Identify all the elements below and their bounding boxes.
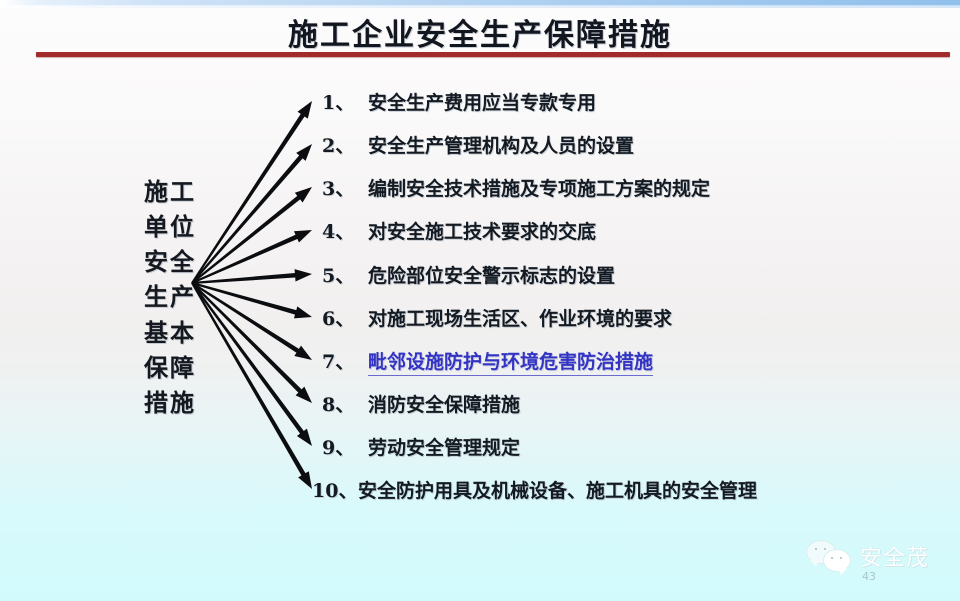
list-item-label: 对施工现场生活区、作业环境的要求: [368, 304, 672, 331]
arrow-3: [191, 187, 312, 284]
measures-list: 1、安全生产费用应当专款专用2、安全生产管理机构及人员的设置3、编制安全技术措施…: [322, 0, 942, 601]
arrow-9: [191, 282, 312, 446]
list-item-number: 5、: [322, 261, 368, 288]
list-item-number: 7、: [322, 347, 368, 374]
left-label-char: 位: [170, 215, 194, 239]
left-label-char: 施: [170, 391, 194, 415]
list-item-label: 安全生产管理机构及人员的设置: [368, 131, 634, 158]
list-item-label: 安全生产费用应当专款专用: [368, 88, 596, 115]
left-label-char: 障: [170, 356, 194, 380]
wechat-bubble-small: [823, 549, 851, 572]
left-label-char: 措: [144, 391, 168, 415]
list-item-number: 6、: [322, 304, 368, 331]
list-item-label: 消防安全保障措施: [368, 390, 520, 417]
arrow-7: [191, 282, 312, 360]
list-item: 9、劳动安全管理规定: [322, 433, 520, 460]
left-label-column-left: 施 单 安 生 基 保 措: [144, 180, 168, 415]
left-label-column-right: 工 位 全 产 本 障 施: [170, 180, 194, 415]
slide-canvas: 施工企业安全生产保障措施 工 位 全 产 本 障 施 施 单 安 生 基 保 措…: [0, 0, 960, 601]
list-item: 10、安全防护用具及机械设备、施工机具的安全管理: [322, 476, 757, 503]
list-item-number: 4、: [322, 217, 368, 244]
left-label-char: 安: [144, 250, 168, 274]
list-item: 8、消防安全保障措施: [322, 390, 520, 417]
list-item-number: 1、: [322, 88, 368, 115]
arrow-2: [191, 144, 312, 284]
watermark-name: 安全茂: [860, 540, 929, 572]
bubble-eye: [824, 548, 826, 550]
left-label-char: 产: [170, 285, 194, 309]
left-label-char: 单: [144, 215, 168, 239]
left-label-char: 基: [144, 321, 168, 345]
list-item: 4、对安全施工技术要求的交底: [322, 217, 596, 244]
list-item: 2、安全生产管理机构及人员的设置: [322, 131, 634, 158]
list-item-label: 毗邻设施防护与环境危害防治措施: [368, 347, 653, 376]
list-item-label: 劳动安全管理规定: [368, 433, 520, 460]
left-label-char: 施: [144, 180, 168, 204]
bubble-eye: [831, 557, 833, 559]
list-item-label: 安全防护用具及机械设备、施工机具的安全管理: [358, 476, 757, 503]
list-item-number: 2、: [322, 131, 368, 158]
list-item-label: 对安全施工技术要求的交底: [368, 217, 596, 244]
left-label-char: 保: [144, 356, 168, 380]
arrow-4: [192, 230, 312, 284]
list-item: 6、对施工现场生活区、作业环境的要求: [322, 304, 672, 331]
bubble-eye: [815, 548, 817, 550]
arrow-1: [191, 101, 312, 284]
left-label-char: 全: [170, 250, 194, 274]
list-item-number: 3、: [322, 174, 368, 201]
left-label-char: 工: [170, 180, 194, 204]
left-label-char: 生: [144, 285, 168, 309]
list-item: 5、危险部位安全警示标志的设置: [322, 261, 615, 288]
bubble-eye: [840, 557, 842, 559]
arrow-10: [191, 283, 312, 490]
list-item-number: 10、: [312, 476, 358, 503]
watermark: 安全茂: [806, 539, 929, 573]
arrow-6: [192, 282, 312, 318]
list-item: 3、编制安全技术措施及专项施工方案的规定: [322, 174, 710, 201]
page-number: 43: [862, 570, 876, 583]
left-vertical-label: 工 位 全 产 本 障 施 施 单 安 生 基 保 措: [108, 180, 194, 415]
list-item-number: 8、: [322, 390, 368, 417]
arrow-8: [191, 282, 312, 403]
list-item: 1、安全生产费用应当专款专用: [322, 88, 596, 115]
wechat-icon: [806, 539, 852, 573]
list-item-label: 危险部位安全警示标志的设置: [368, 261, 615, 288]
list-item-number: 9、: [322, 433, 368, 460]
list-item-label: 编制安全技术措施及专项施工方案的规定: [368, 174, 710, 201]
list-item: 7、毗邻设施防护与环境危害防治措施: [322, 347, 653, 376]
left-label-char: 本: [170, 321, 194, 345]
arrow-5: [192, 269, 312, 284]
